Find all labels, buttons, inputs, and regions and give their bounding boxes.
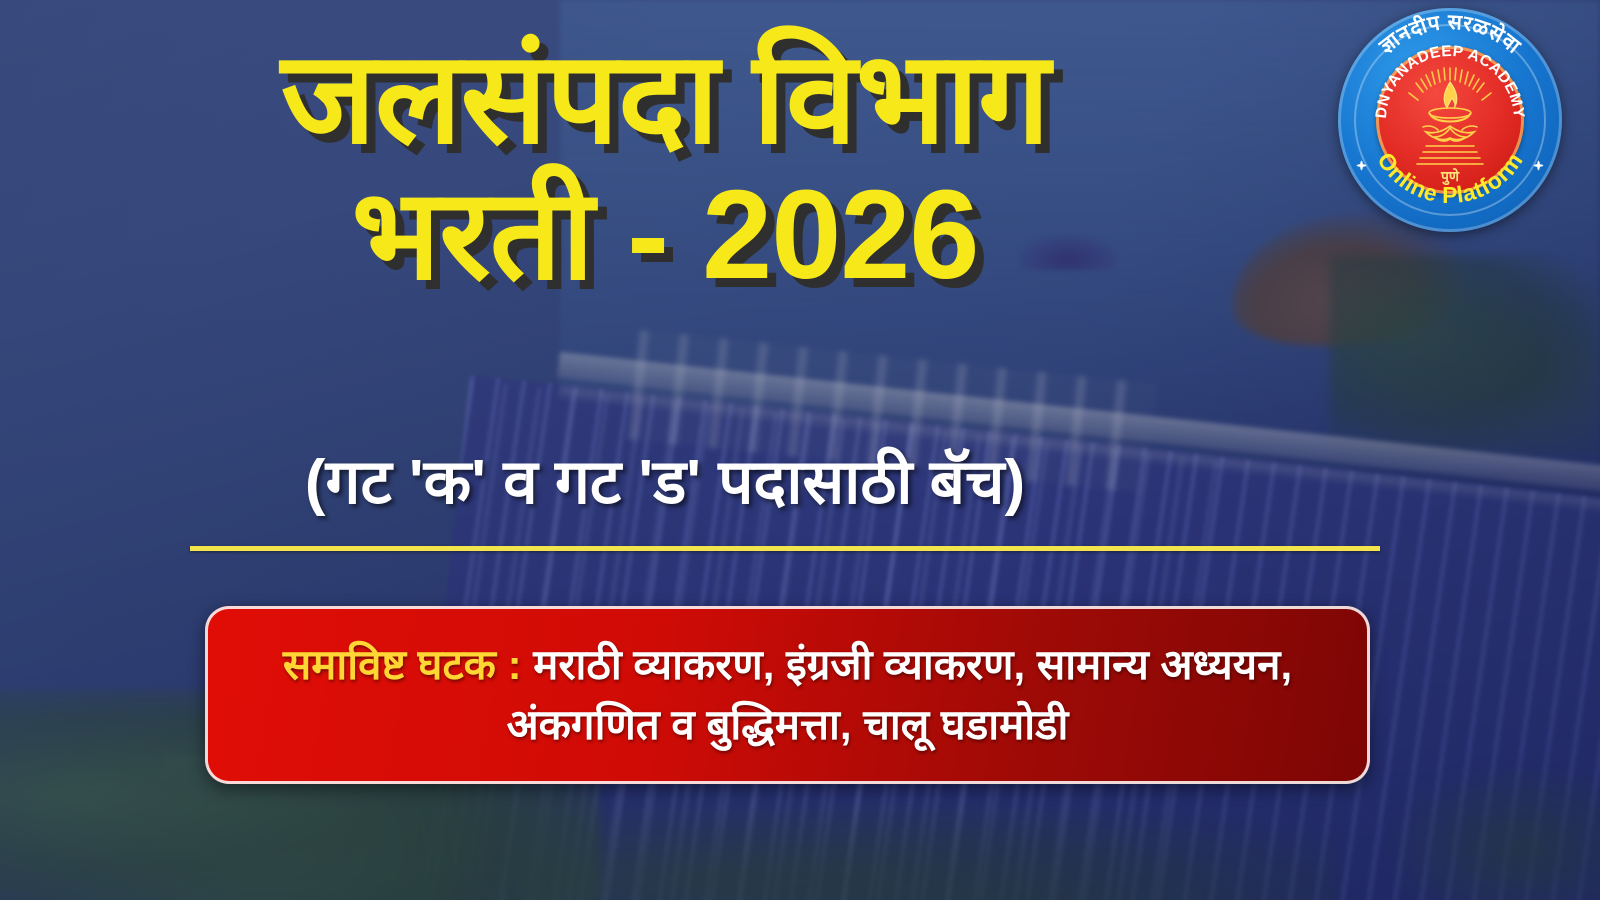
title-line-2: भरती - 2026 <box>0 171 1330 300</box>
academy-logo: ज्ञानदीप सरळसेवा DNYANADEEP ACADEMY Onli… <box>1338 8 1562 232</box>
subtitle-text: (गट 'क' व गट 'ड' पदासाठी बॅच) <box>0 438 1330 522</box>
headline-block: जलसंपदा विभाग भरती - 2026 <box>0 34 1330 299</box>
yellow-divider <box>190 546 1380 551</box>
oil-lamp-icon: पुणे <box>1376 46 1524 194</box>
title-line-1: जलसंपदा विभाग <box>0 34 1330 165</box>
subjects-line-1: समाविष्ट घटक : मराठी व्याकरण, इंग्रजी व्… <box>283 635 1292 695</box>
subjects-label: समाविष्ट घटक : <box>283 641 522 688</box>
recruitment-banner: जलसंपदा विभाग भरती - 2026 (गट 'क' व गट '… <box>0 0 1600 900</box>
logo-city-text: पुणे <box>1440 168 1460 186</box>
subjects-line-1-text: मराठी व्याकरण, इंग्रजी व्याकरण, सामान्य … <box>522 641 1293 688</box>
subjects-line-2: अंकगणित व बुद्धिमत्ता, चालू घडामोडी <box>507 695 1069 755</box>
subjects-box: समाविष्ट घटक : मराठी व्याकरण, इंग्रजी व्… <box>205 606 1370 784</box>
